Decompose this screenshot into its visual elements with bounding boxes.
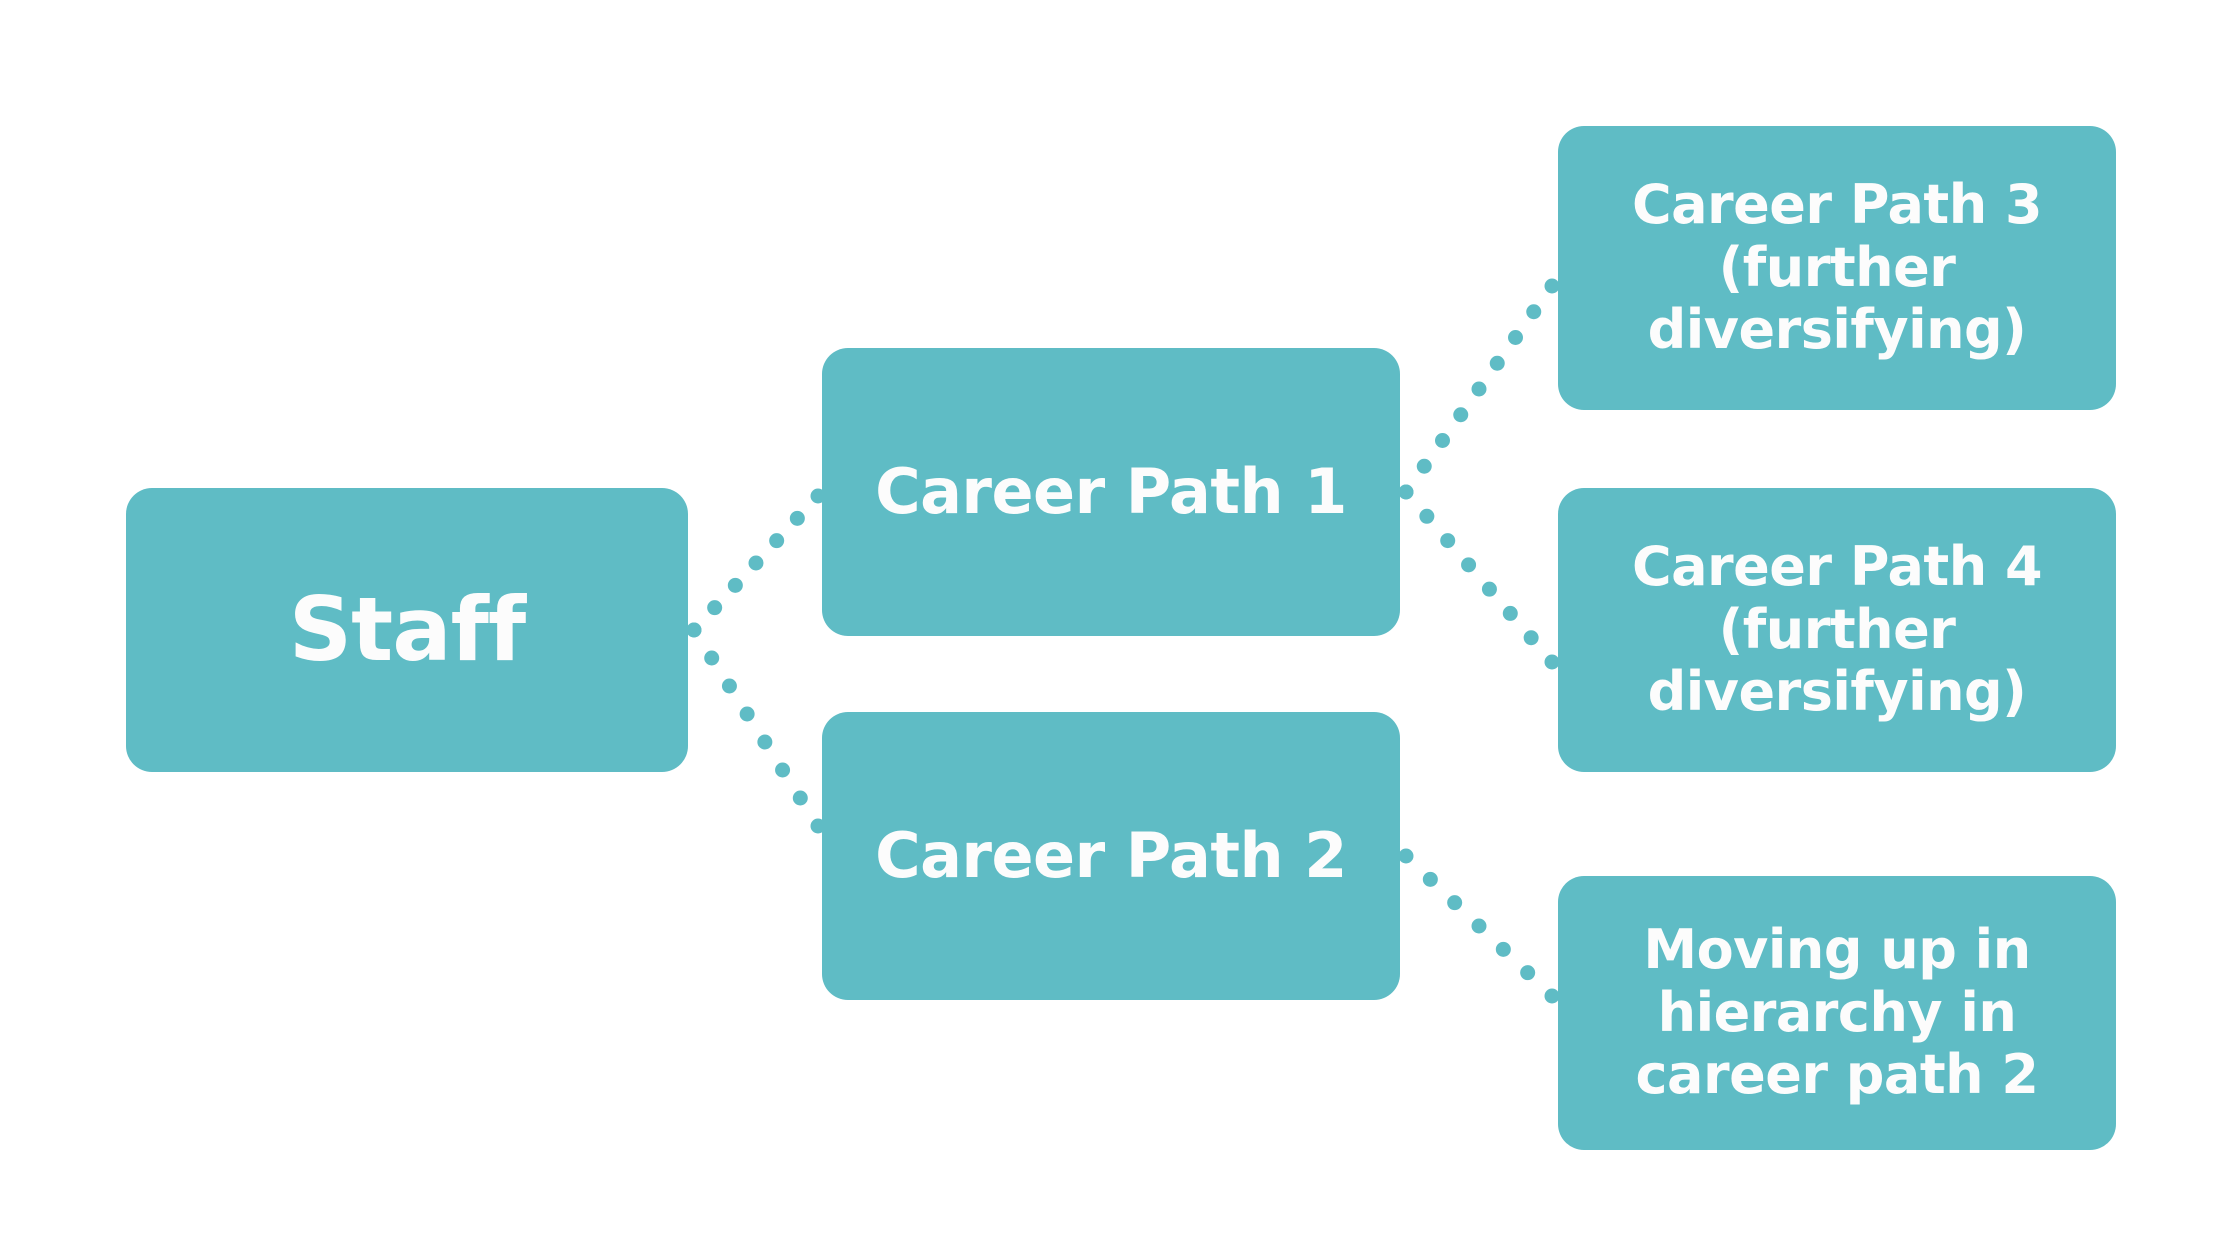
node-career-path-2[interactable]: Career Path 2 — [822, 712, 1400, 1000]
node-moving-up-label: Moving up in hierarchy in career path 2 — [1576, 919, 2098, 1107]
connector-dot — [1461, 557, 1476, 572]
connector-dot — [1440, 533, 1455, 548]
connector-dot — [1399, 485, 1414, 500]
connector-dot — [1453, 407, 1468, 422]
node-career-path-1-label: Career Path 1 — [840, 456, 1382, 528]
node-career-path-1[interactable]: Career Path 1 — [822, 348, 1400, 636]
connector-dot — [728, 578, 743, 593]
connector-dot — [769, 533, 784, 548]
connector-dot — [1472, 382, 1487, 397]
connector-dot — [1447, 895, 1462, 910]
connector-dot — [687, 623, 702, 638]
career-path-1-to-career-path-3 — [1399, 279, 1560, 500]
connector-dot — [1472, 919, 1487, 934]
connector-dot — [1435, 433, 1450, 448]
node-career-path-4-label: Career Path 4 (further diversifying) — [1576, 536, 2098, 724]
staff-to-career-path-2 — [687, 623, 826, 834]
career-path-1-to-career-path-4 — [1399, 485, 1560, 670]
connector-dot — [1419, 509, 1434, 524]
connector-dot — [722, 679, 737, 694]
node-moving-up[interactable]: Moving up in hierarchy in career path 2 — [1558, 876, 2116, 1150]
connector-dot — [1399, 485, 1414, 500]
connector-dot — [704, 651, 719, 666]
node-career-path-3-label: Career Path 3 (further diversifying) — [1576, 174, 2098, 362]
connector-dot — [1423, 872, 1438, 887]
connector-dot — [775, 763, 790, 778]
connector-dot — [1526, 304, 1541, 319]
node-career-path-3[interactable]: Career Path 3 (further diversifying) — [1558, 126, 2116, 410]
connector-dot — [687, 623, 702, 638]
connector-dot — [1417, 459, 1432, 474]
connector-dot — [1524, 630, 1539, 645]
node-career-path-4[interactable]: Career Path 4 (further diversifying) — [1558, 488, 2116, 772]
connector-dot — [1520, 965, 1535, 980]
staff-to-career-path-1 — [687, 489, 826, 638]
connector-dot — [740, 707, 755, 722]
career-path-2-to-moving-up — [1399, 849, 1560, 1004]
node-career-path-2-label: Career Path 2 — [840, 820, 1382, 892]
diagram-canvas: Staff Career Path 1 Career Path 2 Career… — [0, 0, 2240, 1260]
connector-dot — [1482, 582, 1497, 597]
node-staff[interactable]: Staff — [126, 488, 688, 772]
connector-dot — [1508, 330, 1523, 345]
connector-dot — [790, 511, 805, 526]
connector-dot — [749, 556, 764, 571]
connector-dot — [1490, 356, 1505, 371]
connector-dot — [1503, 606, 1518, 621]
connector-dot — [1496, 942, 1511, 957]
connector-dot — [1399, 849, 1414, 864]
connector-dot — [707, 600, 722, 615]
node-staff-label: Staff — [144, 579, 670, 681]
connector-dot — [793, 791, 808, 806]
connector-dot — [757, 735, 772, 750]
